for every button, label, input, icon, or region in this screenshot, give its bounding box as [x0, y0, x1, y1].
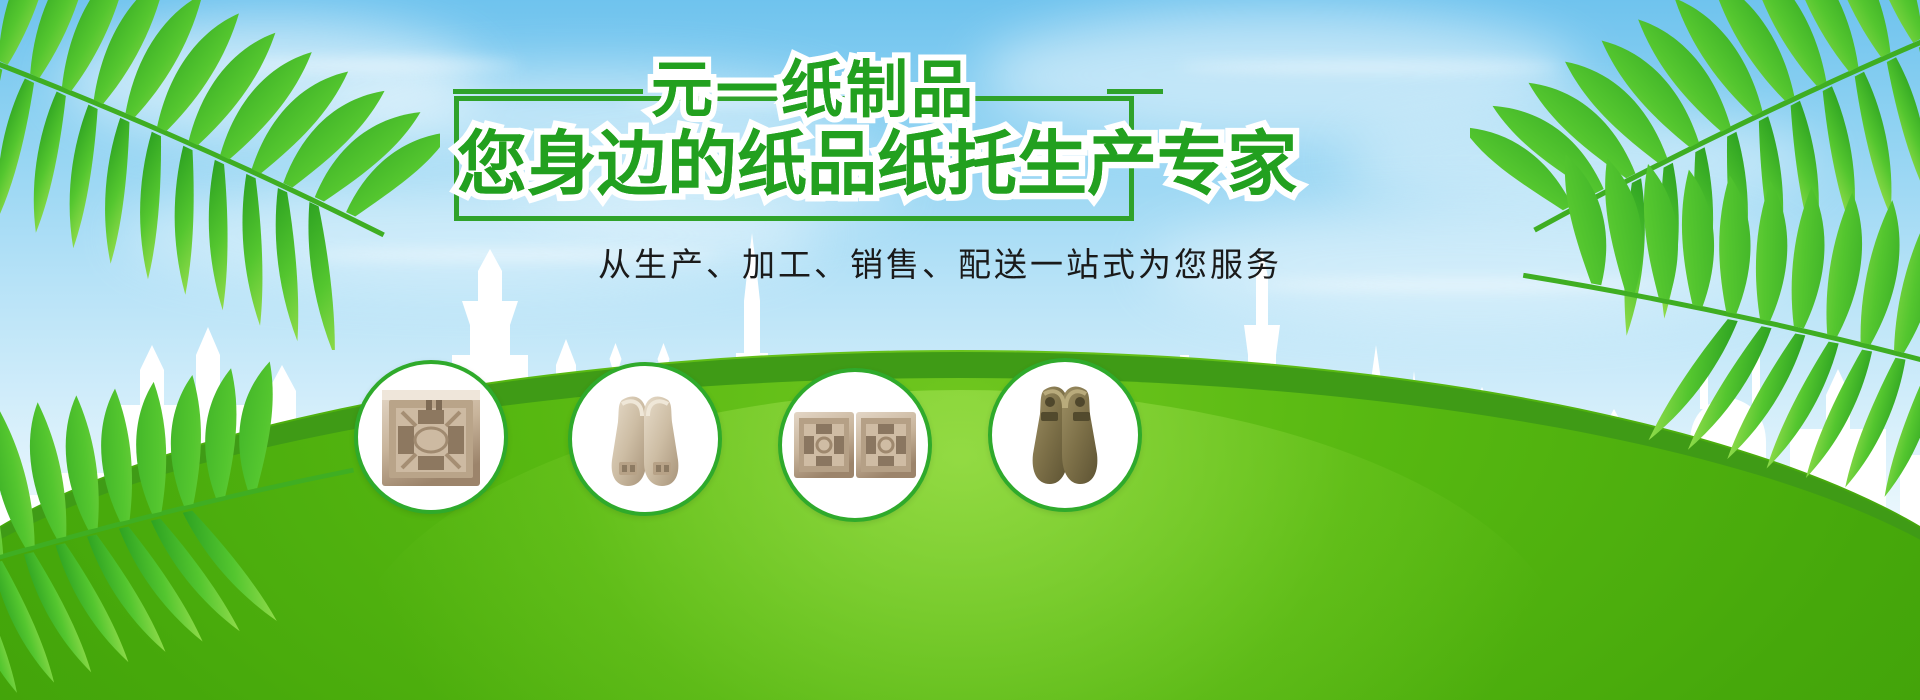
cloud — [60, 20, 480, 140]
headline-subtitle: 您身边的纸品纸托生产专家 — [457, 129, 1297, 199]
green-hill — [0, 320, 1920, 700]
tagline-text: 从生产、加工、销售、配送一站式为您服务 — [598, 238, 1282, 286]
tagline: 从生产、加工、销售、配送一站式为您服务 — [0, 238, 1920, 286]
cloud-wisp — [1180, 62, 1560, 72]
twin-pulp-tray-icon — [782, 372, 928, 518]
bush-texture — [0, 350, 1920, 700]
product-circle-square-pulp-tray[interactable] — [354, 360, 508, 514]
headline-rule-right — [1107, 89, 1163, 94]
headline-rule-left — [453, 89, 643, 94]
cloud-wisp — [220, 60, 520, 70]
shoe-tree-pair-icon — [572, 366, 718, 512]
product-circle-twin-pulp-tray[interactable] — [778, 368, 932, 522]
dark-shoe-tree-pair-icon — [992, 362, 1138, 508]
square-pulp-tray-icon — [358, 364, 504, 510]
palm-frond-icon — [1480, 120, 1920, 540]
palm-frond-icon — [0, 0, 440, 350]
bush-rim — [0, 352, 1920, 700]
product-circle-dark-shoe-tree-pair[interactable] — [988, 358, 1142, 512]
cloud — [1340, 110, 1820, 210]
palm-frond-icon — [0, 330, 400, 700]
headline-title: 元一纸制品 — [651, 59, 976, 121]
product-circle-shoe-tree-pair[interactable] — [568, 362, 722, 516]
hero-banner: 元一纸制品 元一纸制品 您身边的纸品纸托生产专家 您身边的纸品纸托生产专家 从生… — [0, 0, 1920, 700]
headline-frame: 元一纸制品 元一纸制品 您身边的纸品纸托生产专家 您身边的纸品纸托生产专家 — [454, 96, 1134, 221]
